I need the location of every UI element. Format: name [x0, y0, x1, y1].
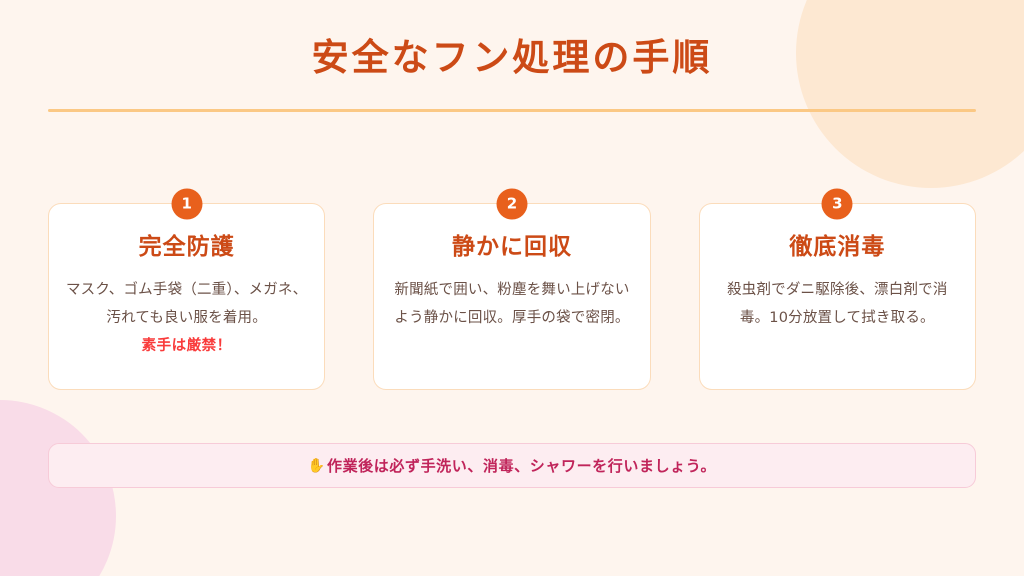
pink-circle-decoration	[0, 400, 116, 576]
slide-canvas: 安全なフン処理の手順 1 完全防護 マスク、ゴム手袋（二重）、メガネ、汚れても良…	[0, 0, 1024, 576]
title-divider	[48, 109, 976, 112]
step-title-1: 完全防護	[65, 234, 308, 262]
step-body-3: 殺虫剤でダニ駆除後、漂白剤で消毒。10分放置して拭き取る。	[716, 276, 959, 333]
step-card-1[interactable]: 1 完全防護 マスク、ゴム手袋（二重）、メガネ、汚れても良い服を着用。 素手は厳…	[48, 203, 325, 390]
footer-banner: ✋ 作業後は必ず手洗い、消毒、シャワーを行いましょう。	[48, 443, 976, 488]
footer-note-text: 作業後は必ず手洗い、消毒、シャワーを行いましょう。	[327, 455, 716, 476]
hand-wash-icon: ✋	[308, 459, 326, 473]
step-card-2[interactable]: 2 静かに回収 新聞紙で囲い、粉塵を舞い上げないよう静かに回収。厚手の袋で密閉。	[373, 203, 650, 390]
page-title: 安全なフン処理の手順	[0, 36, 1024, 80]
step-body-2: 新聞紙で囲い、粉塵を舞い上げないよう静かに回収。厚手の袋で密閉。	[390, 276, 633, 333]
step-card-3[interactable]: 3 徹底消毒 殺虫剤でダニ駆除後、漂白剤で消毒。10分放置して拭き取る。	[699, 203, 976, 390]
slide-header: 安全なフン処理の手順	[0, 36, 1024, 80]
steps-container: 1 完全防護 マスク、ゴム手袋（二重）、メガネ、汚れても良い服を着用。 素手は厳…	[48, 203, 976, 390]
step-warning-1: 素手は厳禁！	[65, 334, 308, 355]
step-badge-2: 2	[496, 189, 527, 220]
step-body-1: マスク、ゴム手袋（二重）、メガネ、汚れても良い服を着用。	[65, 276, 308, 333]
step-title-2: 静かに回収	[390, 234, 633, 262]
step-title-3: 徹底消毒	[716, 234, 959, 262]
step-badge-3: 3	[822, 189, 853, 220]
peach-circle-decoration	[796, 0, 1024, 188]
footer-note: ✋ 作業後は必ず手洗い、消毒、シャワーを行いましょう。	[308, 455, 716, 476]
step-badge-1: 1	[171, 189, 202, 220]
